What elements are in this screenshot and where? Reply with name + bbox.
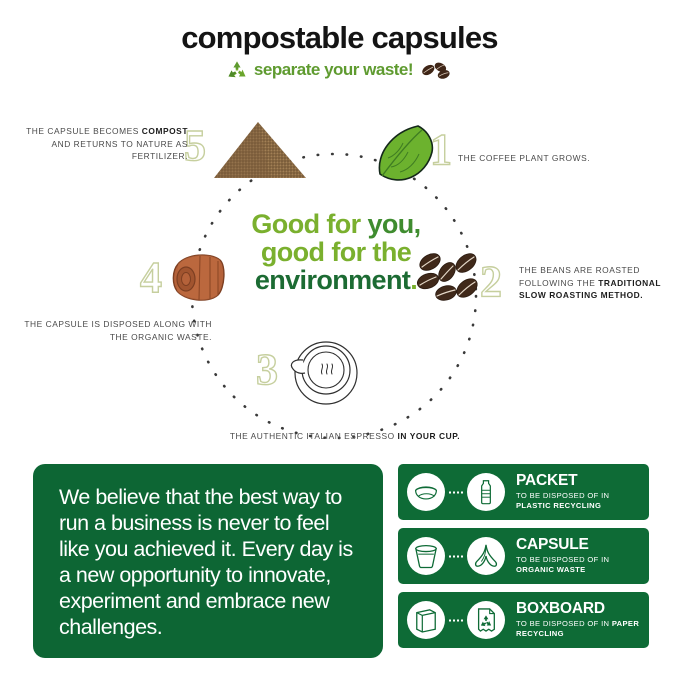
disposal-card-capsule[interactable]: CAPSULE TO BE DISPOSED OF INORGANIC WAST…	[398, 528, 649, 584]
slogan-line-2: good for the	[228, 238, 444, 266]
step-3-number: 3	[256, 348, 278, 392]
step-2-number: 2	[480, 260, 502, 304]
carton-box-icon	[407, 601, 445, 639]
step-1-caption: THE COFFEE PLANT GROWS.	[458, 152, 658, 165]
boxboard-text: BOXBOARD TO BE DISPOSED OF IN PAPER RECY…	[516, 601, 641, 640]
step-4-number: 4	[140, 256, 162, 300]
boxboard-dotted-connector	[448, 619, 464, 622]
infographic-page: compostable capsules separate your waste…	[0, 0, 679, 679]
recycle-icon	[226, 60, 248, 80]
slogan-line-3-text: environment	[255, 265, 410, 295]
coffee-packet-icon	[407, 473, 445, 511]
capsule-sub-plain: TO BE DISPOSED OF IN	[516, 555, 609, 564]
step-3-icon-group: 3	[281, 336, 363, 406]
coffee-beans-icon	[419, 59, 453, 81]
step-4-icon-group: 4	[166, 248, 232, 308]
capsule-dotted-connector	[448, 555, 464, 558]
compost-pile-icon	[206, 118, 316, 180]
header-subtitle-row: separate your waste!	[0, 59, 679, 81]
step-5-caption-a: THE CAPSULE BECOMES	[26, 126, 142, 136]
boxboard-icons	[407, 601, 505, 639]
slogan-line-1b: you,	[367, 209, 420, 239]
step-2-caption: THE BEANS ARE ROASTED FOLLOWING THE TRAD…	[519, 264, 677, 302]
step-1-number: 1	[430, 128, 452, 172]
step-4-caption: THE CAPSULE IS DISPOSED ALONG WITH THE O…	[20, 318, 212, 343]
quote-text: We believe that the best way to run a bu…	[59, 484, 361, 640]
slogan-line-1: Good for you,	[228, 210, 444, 238]
boxboard-title: BOXBOARD	[516, 601, 641, 617]
disposal-card-packet[interactable]: PACKET TO BE DISPOSED OF INPLASTIC RECYC…	[398, 464, 649, 520]
capsule-title: CAPSULE	[516, 537, 609, 553]
coffee-capsule-icon	[407, 537, 445, 575]
step-5-caption-b: AND RETURNS TO NATURE AS FERTILIZER.	[51, 139, 188, 162]
quote-panel: We believe that the best way to run a bu…	[33, 464, 383, 658]
disposal-cards: PACKET TO BE DISPOSED OF INPLASTIC RECYC…	[398, 464, 649, 656]
paper-recycling-icon	[467, 601, 505, 639]
packet-sub-plain: TO BE DISPOSED OF IN	[516, 491, 609, 500]
capsule-subtitle: TO BE DISPOSED OF INORGANIC WASTE	[516, 555, 609, 576]
packet-subtitle: TO BE DISPOSED OF INPLASTIC RECYCLING	[516, 491, 609, 512]
slogan-line-1a: Good for	[251, 209, 367, 239]
header: compostable capsules separate your waste…	[0, 22, 679, 81]
capsule-text: CAPSULE TO BE DISPOSED OF INORGANIC WAST…	[516, 537, 609, 576]
plastic-bottle-icon	[467, 473, 505, 511]
step-5-icon-group: 5	[206, 118, 316, 180]
header-subtitle: separate your waste!	[254, 60, 413, 80]
slogan-line-3: environment.	[228, 266, 444, 294]
lifecycle-diagram: Good for you, good for the environment. …	[0, 100, 679, 460]
packet-title: PACKET	[516, 473, 609, 489]
packet-dotted-connector	[448, 491, 464, 494]
capsule-sub-bold: ORGANIC WASTE	[516, 565, 586, 574]
step-3-caption-bold: IN YOUR CUP.	[398, 431, 461, 441]
coffee-capsule-icon	[166, 248, 232, 308]
step-1-icon-group: 1	[374, 122, 450, 192]
boxboard-subtitle: TO BE DISPOSED OF IN PAPER RECYCLING	[516, 619, 641, 640]
step-3-caption: THE AUTHENTIC ITALIAN ESPRESSO IN YOUR C…	[180, 430, 510, 443]
step-2-icon-group: 2	[416, 248, 502, 310]
packet-icons	[407, 473, 505, 511]
capsule-icons	[407, 537, 505, 575]
step-3-caption-plain: THE AUTHENTIC ITALIAN ESPRESSO	[230, 431, 398, 441]
boxboard-sub-plain: TO BE DISPOSED OF IN	[516, 619, 612, 628]
packet-text: PACKET TO BE DISPOSED OF INPLASTIC RECYC…	[516, 473, 609, 512]
page-title: compostable capsules	[0, 22, 679, 53]
center-slogan: Good for you, good for the environment.	[228, 210, 444, 294]
espresso-cup-icon	[281, 336, 363, 406]
step-5-caption-bold: COMPOST	[142, 126, 188, 136]
step-5-caption: THE CAPSULE BECOMES COMPOST AND RETURNS …	[18, 125, 188, 163]
banana-peel-icon	[467, 537, 505, 575]
disposal-card-boxboard[interactable]: BOXBOARD TO BE DISPOSED OF IN PAPER RECY…	[398, 592, 649, 648]
packet-sub-bold: PLASTIC RECYCLING	[516, 501, 601, 510]
